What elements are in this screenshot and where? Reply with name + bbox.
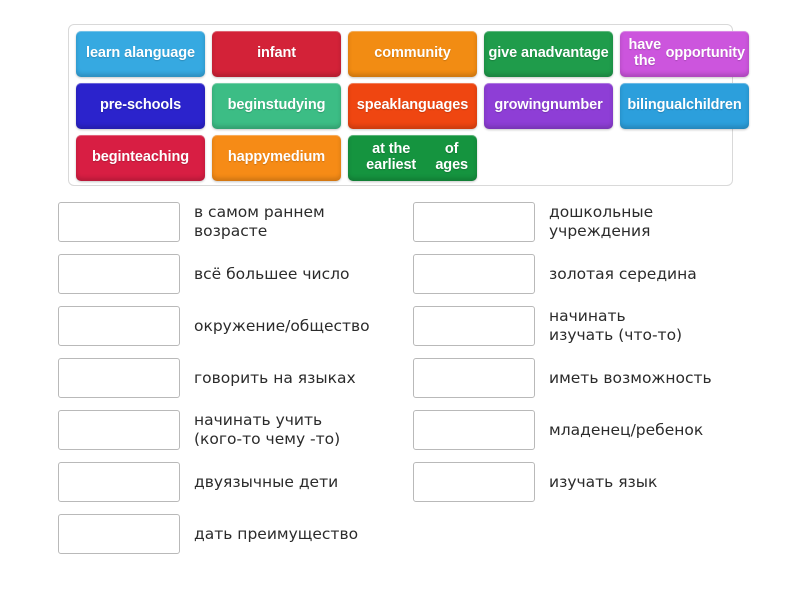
answer-label: золотая середина: [549, 265, 697, 284]
tile-label-line: languages: [397, 98, 468, 114]
tile-infant[interactable]: infant: [212, 31, 341, 77]
answer-label: говорить на языках: [194, 369, 356, 388]
answer-row: всё большее число: [58, 248, 408, 300]
tile-label-line: of ages: [430, 142, 473, 173]
tile-label-line: children: [686, 98, 742, 114]
tile-begin-teaching[interactable]: beginteaching: [76, 135, 205, 181]
answer-drop-box[interactable]: [413, 306, 535, 346]
answer-row: окружение/общество: [58, 300, 408, 352]
tile-label-line: happy: [228, 150, 270, 166]
answers-left-column: в самом раннем возрастевсё большее число…: [58, 196, 408, 560]
tile-label-line: have the: [624, 38, 666, 69]
answer-drop-box[interactable]: [58, 514, 180, 554]
answer-drop-box[interactable]: [58, 410, 180, 450]
tile-begin-studying[interactable]: beginstudying: [212, 83, 341, 129]
answer-drop-box[interactable]: [413, 358, 535, 398]
tile-speak-languages[interactable]: speaklanguages: [348, 83, 477, 129]
answer-row: двуязычные дети: [58, 456, 408, 508]
answer-label: младенец/ребенок: [549, 421, 703, 440]
tile-label-line: speak: [357, 98, 398, 114]
tile-label-line: growing: [494, 98, 550, 114]
tile-pre-schools[interactable]: pre-schools: [76, 83, 205, 129]
answer-drop-box[interactable]: [58, 306, 180, 346]
answer-drop-box[interactable]: [413, 410, 535, 450]
tile-community[interactable]: community: [348, 31, 477, 77]
answer-drop-box[interactable]: [413, 462, 535, 502]
answer-drop-box[interactable]: [413, 202, 535, 242]
tile-label-line: number: [550, 98, 603, 114]
answer-label: начинать учить (кого-то чему -то): [194, 411, 340, 449]
answer-row: иметь возможность: [413, 352, 783, 404]
answer-label: изучать язык: [549, 473, 657, 492]
answer-label: двуязычные дети: [194, 473, 338, 492]
tile-at-the-earliest-of-ages[interactable]: at the earliestof ages: [348, 135, 477, 181]
answer-label: окружение/общество: [194, 317, 370, 336]
tile-bilingual-children[interactable]: bilingualchildren: [620, 83, 749, 129]
tile-label-line: infant: [257, 46, 296, 62]
answer-drop-box[interactable]: [58, 202, 180, 242]
tile-give-an-advantage[interactable]: give anadvantage: [484, 31, 613, 77]
tile-bank-panel: learn alanguageinfantcommunitygive anadv…: [68, 24, 733, 186]
answer-row: говорить на языках: [58, 352, 408, 404]
tile-label-line: pre-schools: [100, 98, 181, 114]
answer-row: в самом раннем возрасте: [58, 196, 408, 248]
tile-label-line: at the earliest: [352, 142, 430, 173]
tile-label-line: learn a: [86, 46, 132, 62]
tile-growing-number[interactable]: growingnumber: [484, 83, 613, 129]
answer-label: в самом раннем возрасте: [194, 203, 325, 241]
answer-drop-box[interactable]: [58, 462, 180, 502]
answer-label: дошкольные учреждения: [549, 203, 653, 241]
tile-label-line: bilingual: [627, 98, 686, 114]
tile-label-line: teaching: [130, 150, 189, 166]
answer-label: всё большее число: [194, 265, 350, 284]
answer-drop-box[interactable]: [58, 254, 180, 294]
tile-learn-a-language[interactable]: learn alanguage: [76, 31, 205, 77]
tile-label-line: give an: [488, 46, 537, 62]
tile-have-the-opportunity[interactable]: have theopportunity: [620, 31, 749, 77]
answer-label: дать преимущество: [194, 525, 358, 544]
answers-right-column: дошкольные учреждениязолотая серединанач…: [413, 196, 783, 508]
tile-label-line: begin: [92, 150, 130, 166]
answer-label: начинать изучать (что-то): [549, 307, 682, 345]
answer-drop-box[interactable]: [58, 358, 180, 398]
answer-row: дошкольные учреждения: [413, 196, 783, 248]
tile-label-line: medium: [270, 150, 325, 166]
tile-label-line: advantage: [538, 46, 609, 62]
tile-row: beginteachinghappymediumat the earliesto…: [76, 135, 725, 181]
answer-row: младенец/ребенок: [413, 404, 783, 456]
tile-label-line: language: [132, 46, 195, 62]
answer-row: дать преимущество: [58, 508, 408, 560]
answer-drop-box[interactable]: [413, 254, 535, 294]
answer-row: золотая середина: [413, 248, 783, 300]
tile-label-line: opportunity: [666, 46, 745, 62]
answer-label: иметь возможность: [549, 369, 712, 388]
tile-row: learn alanguageinfantcommunitygive anadv…: [76, 31, 725, 77]
answer-row: начинать изучать (что-то): [413, 300, 783, 352]
tile-happy-medium[interactable]: happymedium: [212, 135, 341, 181]
answer-row: изучать язык: [413, 456, 783, 508]
tile-row: pre-schoolsbeginstudyingspeaklanguagesgr…: [76, 83, 725, 129]
tile-label-line: community: [374, 46, 450, 62]
tile-label-line: studying: [266, 98, 326, 114]
matching-exercise-page: learn alanguageinfantcommunitygive anadv…: [0, 0, 800, 600]
answer-row: начинать учить (кого-то чему -то): [58, 404, 408, 456]
tile-label-line: begin: [228, 98, 266, 114]
